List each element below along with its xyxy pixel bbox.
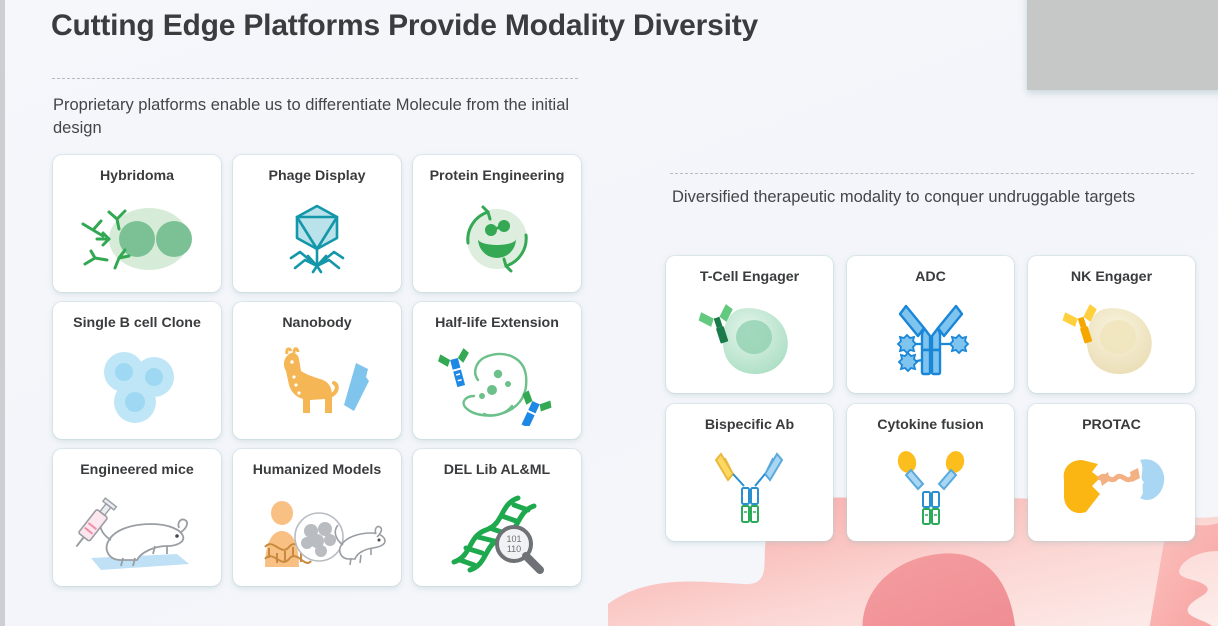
nk-engager-icon [1028,286,1195,393]
bispecific-antibody-icon [666,434,833,541]
card-label: Phage Display [269,168,366,185]
modality-card-protac[interactable]: PROTAC [1028,404,1195,541]
hybridoma-icon [53,185,221,292]
protein-engineering-icon [413,185,581,292]
platforms-panel: Cutting Edge Platforms Provide Modality … [48,0,593,626]
modalities-panel: Diversified therapeutic modality to conq… [665,0,1205,626]
half-life-extension-icon [413,332,581,439]
card-label: Cytokine fusion [877,417,983,434]
left-panel-divider [52,78,578,79]
card-label: Bispecific Ab [705,417,794,434]
modality-card-bispecific-ab[interactable]: Bispecific Ab [666,404,833,541]
modality-card-t-cell-engager[interactable]: T-Cell Engager [666,256,833,393]
platform-card-humanized-models[interactable]: Humanized Models [233,449,401,586]
card-label: Protein Engineering [430,168,565,185]
modality-card-adc[interactable]: ADC [847,256,1014,393]
left-edge-strip [0,0,5,626]
card-label: Humanized Models [253,462,382,479]
slide-canvas: Cutting Edge Platforms Provide Modality … [5,0,1218,626]
platform-card-engineered-mice[interactable]: Engineered mice [53,449,221,586]
phage-display-icon [233,185,401,292]
svg-text:101: 101 [506,534,521,544]
humanized-models-icon [233,479,401,586]
platform-card-del-library-ai-ml[interactable]: DEL Lib AL&ML 101 110 [413,449,581,586]
right-panel-subtitle: Diversified therapeutic modality to conq… [672,186,1197,209]
nanobody-llama-icon [233,332,401,439]
card-label: NK Engager [1071,269,1152,286]
card-label: ADC [915,269,946,286]
card-label: Half-life Extension [435,315,559,332]
card-label: T-Cell Engager [700,269,799,286]
platform-card-protein-engineering[interactable]: Protein Engineering [413,155,581,292]
del-library-ai-ml-icon: 101 110 [413,479,581,586]
modality-card-cytokine-fusion[interactable]: Cytokine fusion [847,404,1014,541]
svg-text:110: 110 [507,544,521,554]
card-label: Engineered mice [80,462,194,479]
platform-card-nanobody[interactable]: Nanobody [233,302,401,439]
protac-icon [1028,434,1195,541]
card-label: Hybridoma [100,168,174,185]
single-b-cell-clone-icon [53,332,221,439]
card-label: DEL Lib AL&ML [444,462,550,479]
engineered-mice-icon [53,479,221,586]
platforms-card-grid: Hybridoma [53,155,588,586]
left-panel-subtitle: Proprietary platforms enable us to diffe… [53,94,583,140]
card-label: PROTAC [1082,417,1141,434]
adc-antibody-drug-conjugate-icon [847,286,1014,393]
modality-card-nk-engager[interactable]: NK Engager [1028,256,1195,393]
platform-card-phage-display[interactable]: Phage Display [233,155,401,292]
t-cell-engager-icon [666,286,833,393]
modalities-card-grid: T-Cell Engager [666,256,1196,541]
card-label: Single B cell Clone [73,315,201,332]
page-title: Cutting Edge Platforms Provide Modality … [51,9,758,43]
platform-card-hybridoma[interactable]: Hybridoma [53,155,221,292]
cytokine-fusion-icon [847,434,1014,541]
card-label: Nanobody [282,315,351,332]
platform-card-single-b-cell-clone[interactable]: Single B cell Clone [53,302,221,439]
right-panel-divider [670,173,1194,174]
platform-card-half-life-extension[interactable]: Half-life Extension [413,302,581,439]
